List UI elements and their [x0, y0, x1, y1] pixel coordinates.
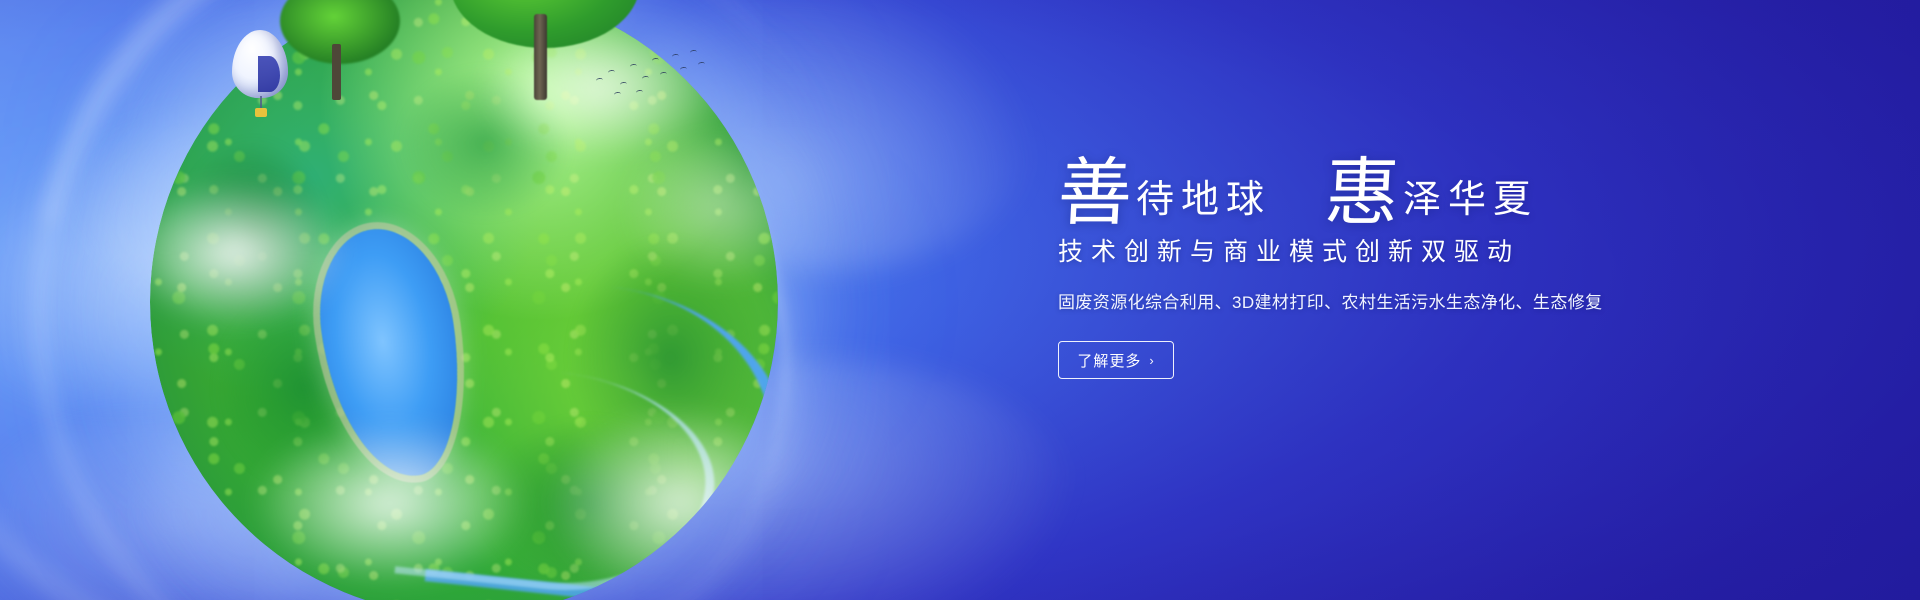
headline-accent-char: 善	[1056, 156, 1134, 230]
hero-subtitle: 技术创新与商业模式创新双驱动	[1058, 236, 1698, 270]
page-title: 善 待地球 惠 泽华夏	[1058, 132, 1698, 224]
hero-description: 固废资源化综合利用、3D建材打印、农村生活污水生态净化、生态修复	[1058, 290, 1698, 316]
headline-accent-char: 惠	[1323, 156, 1401, 230]
headline-group-1: 善 待地球	[1058, 150, 1271, 224]
headline-rest-chars: 待地球	[1136, 180, 1271, 218]
hero-copy: 善 待地球 惠 泽华夏 技术创新与商业模式创新双驱动 固废资源化综合利用、3D建…	[1058, 132, 1698, 379]
learn-more-label: 了解更多	[1077, 350, 1141, 371]
learn-more-button[interactable]: 了解更多 ›	[1058, 341, 1174, 379]
chevron-right-icon: ›	[1149, 353, 1154, 368]
hero-banner: 善 待地球 惠 泽华夏 技术创新与商业模式创新双驱动 固废资源化综合利用、3D建…	[0, 0, 1920, 600]
headline-rest-chars: 泽华夏	[1403, 180, 1538, 218]
headline-group-2: 惠 泽华夏	[1325, 150, 1538, 224]
